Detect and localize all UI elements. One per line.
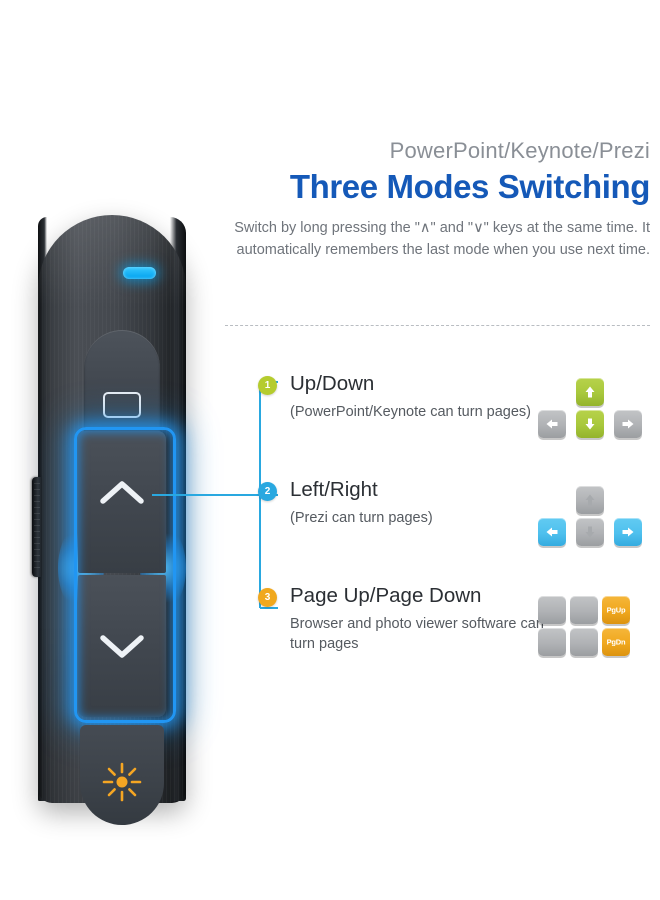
- laser-pointer-button[interactable]: [80, 725, 164, 825]
- item-subtitle-3: Browser and photo viewer software can tu…: [290, 614, 562, 655]
- item-badge-1: 1: [258, 376, 277, 395]
- key-arrow-down: [576, 410, 604, 438]
- key-page-up: PgUp: [602, 596, 630, 624]
- key-cluster-up-down: [538, 378, 642, 442]
- item-title-1: Up/Down: [290, 372, 562, 397]
- item-badge-3: 3: [258, 588, 277, 607]
- item-subtitle-1: (PowerPoint/Keynote can turn pages): [290, 402, 562, 423]
- key-page-down: PgDn: [602, 628, 630, 656]
- infographic-canvas: PowerPoint/Keynote/Prezi Three Modes Swi…: [0, 0, 660, 900]
- key-arrow-right: [614, 518, 642, 546]
- key-cluster-page-up-down: PgUp PgDn: [538, 596, 642, 660]
- key-cluster-left-right: [538, 486, 642, 550]
- key-blank-top-left: [538, 596, 566, 624]
- page-title: Three Modes Switching: [225, 169, 650, 206]
- key-arrow-down: [576, 518, 604, 546]
- header-block: PowerPoint/Keynote/Prezi Three Modes Swi…: [225, 138, 650, 261]
- key-arrow-up: [576, 486, 604, 514]
- list-item: 2 Left/Right (Prezi can turn pages): [262, 478, 562, 528]
- laser-sun-icon: [101, 761, 143, 803]
- key-arrow-left: [538, 518, 566, 546]
- screen-blank-button[interactable]: [84, 330, 160, 440]
- dashed-divider: [225, 325, 650, 326]
- key-arrow-right: [614, 410, 642, 438]
- status-led-indicator: [123, 267, 156, 279]
- key-blank-bottom-mid: [570, 628, 598, 656]
- item-badge-2: 2: [258, 482, 277, 501]
- key-blank-top-mid: [570, 596, 598, 624]
- item-subtitle-2: (Prezi can turn pages): [290, 508, 562, 529]
- list-item: 3 Page Up/Page Down Browser and photo vi…: [262, 584, 562, 655]
- side-button[interactable]: [32, 477, 42, 577]
- item-title-2: Left/Right: [290, 478, 562, 503]
- eyebrow-text: PowerPoint/Keynote/Prezi: [225, 138, 650, 163]
- key-arrow-left: [538, 410, 566, 438]
- item-title-3: Page Up/Page Down: [290, 584, 562, 609]
- key-blank-bottom-left: [538, 628, 566, 656]
- header-description: Switch by long pressing the "∧" and "∨" …: [225, 218, 650, 261]
- key-page-down-label: PgDn: [602, 638, 630, 647]
- key-arrow-up: [576, 378, 604, 406]
- list-item: 1 Up/Down (PowerPoint/Keynote can turn p…: [262, 372, 562, 422]
- rectangle-screen-icon: [103, 392, 141, 418]
- key-page-up-label: PgUp: [602, 606, 630, 615]
